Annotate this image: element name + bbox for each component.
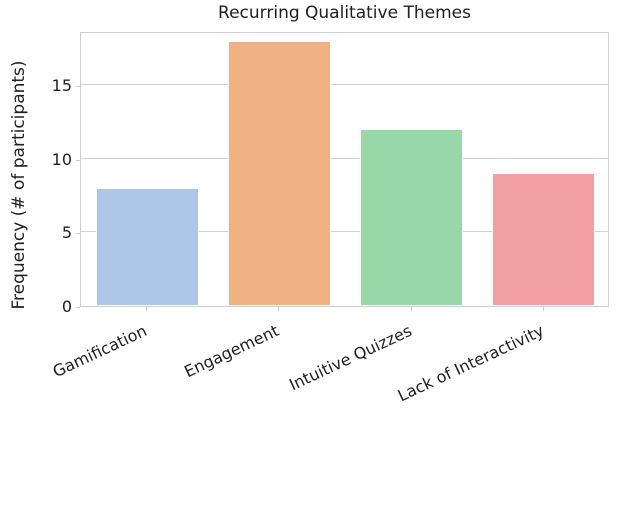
x-axis-tick-mark (278, 307, 279, 311)
y-axis-tick-label: 15 (26, 78, 72, 94)
x-axis-tick-mark (146, 307, 147, 311)
bar (492, 173, 595, 306)
plot-area (80, 32, 609, 307)
y-axis-tick-label: 0 (26, 299, 72, 315)
chart-title: Recurring Qualitative Themes (80, 2, 609, 24)
y-axis-tick-mark (76, 307, 80, 308)
bar (360, 129, 463, 306)
y-axis-label: Frequency (# of participants) (4, 30, 34, 340)
y-axis-tick-label: 5 (26, 225, 72, 241)
bar (96, 188, 199, 306)
x-axis-tick-mark (543, 307, 544, 311)
bars-group (81, 33, 608, 306)
y-axis-tick-label: 10 (26, 152, 72, 168)
x-axis-tick-mark (411, 307, 412, 311)
bar (228, 41, 331, 306)
figure-canvas: Recurring Qualitative Themes Frequency (… (0, 0, 624, 410)
